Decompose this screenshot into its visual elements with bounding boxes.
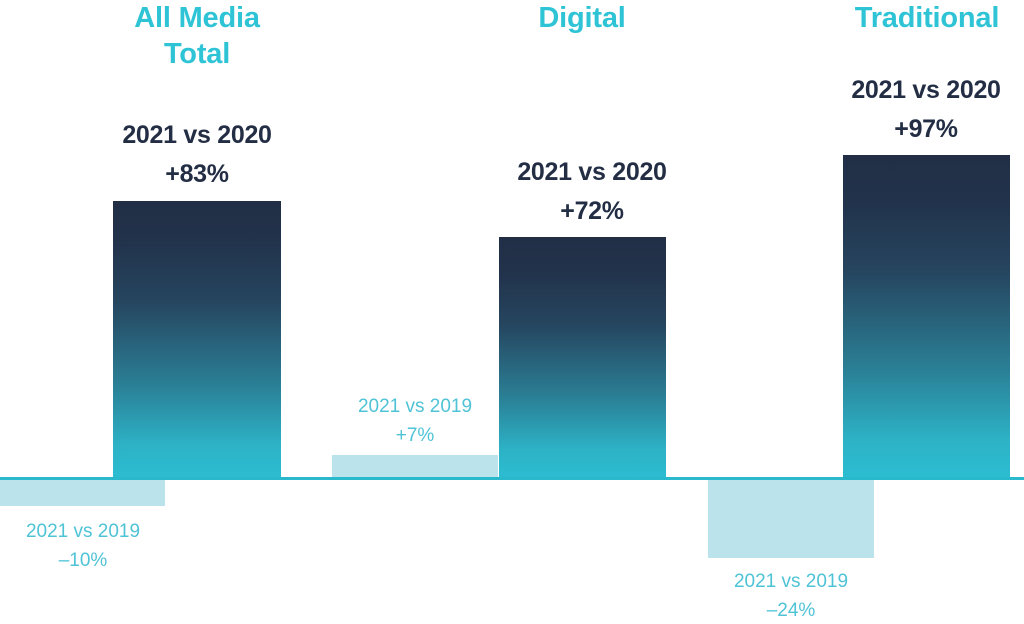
bar-secondary-all-media-total [0,480,165,506]
group-title-line1: Traditional [822,0,1024,36]
group-title-traditional: Traditional [822,0,1024,36]
baseline-axis-line [0,477,1024,480]
chart-canvas: All Media Total 2021 vs 2020 +83% 2021 v… [0,0,1024,624]
primary-callout-all-media-total: 2021 vs 2020 +83% [82,116,312,194]
secondary-callout-digital: 2021 vs 2019 +7% [332,392,498,450]
secondary-callout-all-media-total: 2021 vs 2019 –10% [0,517,166,575]
secondary-callout-value: –10% [0,546,166,575]
primary-callout-label: 2021 vs 2020 [82,116,312,155]
primary-callout-value: +72% [477,192,707,231]
primary-callout-traditional: 2021 vs 2020 +97% [811,71,1024,149]
secondary-callout-label: 2021 vs 2019 [708,567,874,596]
group-title-all-media-total: All Media Total [92,0,302,72]
bar-primary-digital [499,237,666,479]
secondary-callout-label: 2021 vs 2019 [0,517,166,546]
primary-callout-label: 2021 vs 2020 [811,71,1024,110]
primary-callout-digital: 2021 vs 2020 +72% [477,153,707,231]
bar-primary-traditional [843,155,1010,479]
secondary-callout-value: +7% [332,421,498,450]
group-title-digital: Digital [477,0,687,36]
secondary-callout-traditional: 2021 vs 2019 –24% [708,567,874,624]
bar-secondary-digital [332,455,498,479]
group-title-line2: Total [92,36,302,72]
secondary-callout-label: 2021 vs 2019 [332,392,498,421]
secondary-callout-value: –24% [708,596,874,624]
primary-callout-label: 2021 vs 2020 [477,153,707,192]
group-title-line1: Digital [477,0,687,36]
group-title-line1: All Media [92,0,302,36]
bar-secondary-traditional [708,480,874,558]
primary-callout-value: +97% [811,110,1024,149]
primary-callout-value: +83% [82,155,312,194]
bar-primary-all-media-total [113,201,281,479]
